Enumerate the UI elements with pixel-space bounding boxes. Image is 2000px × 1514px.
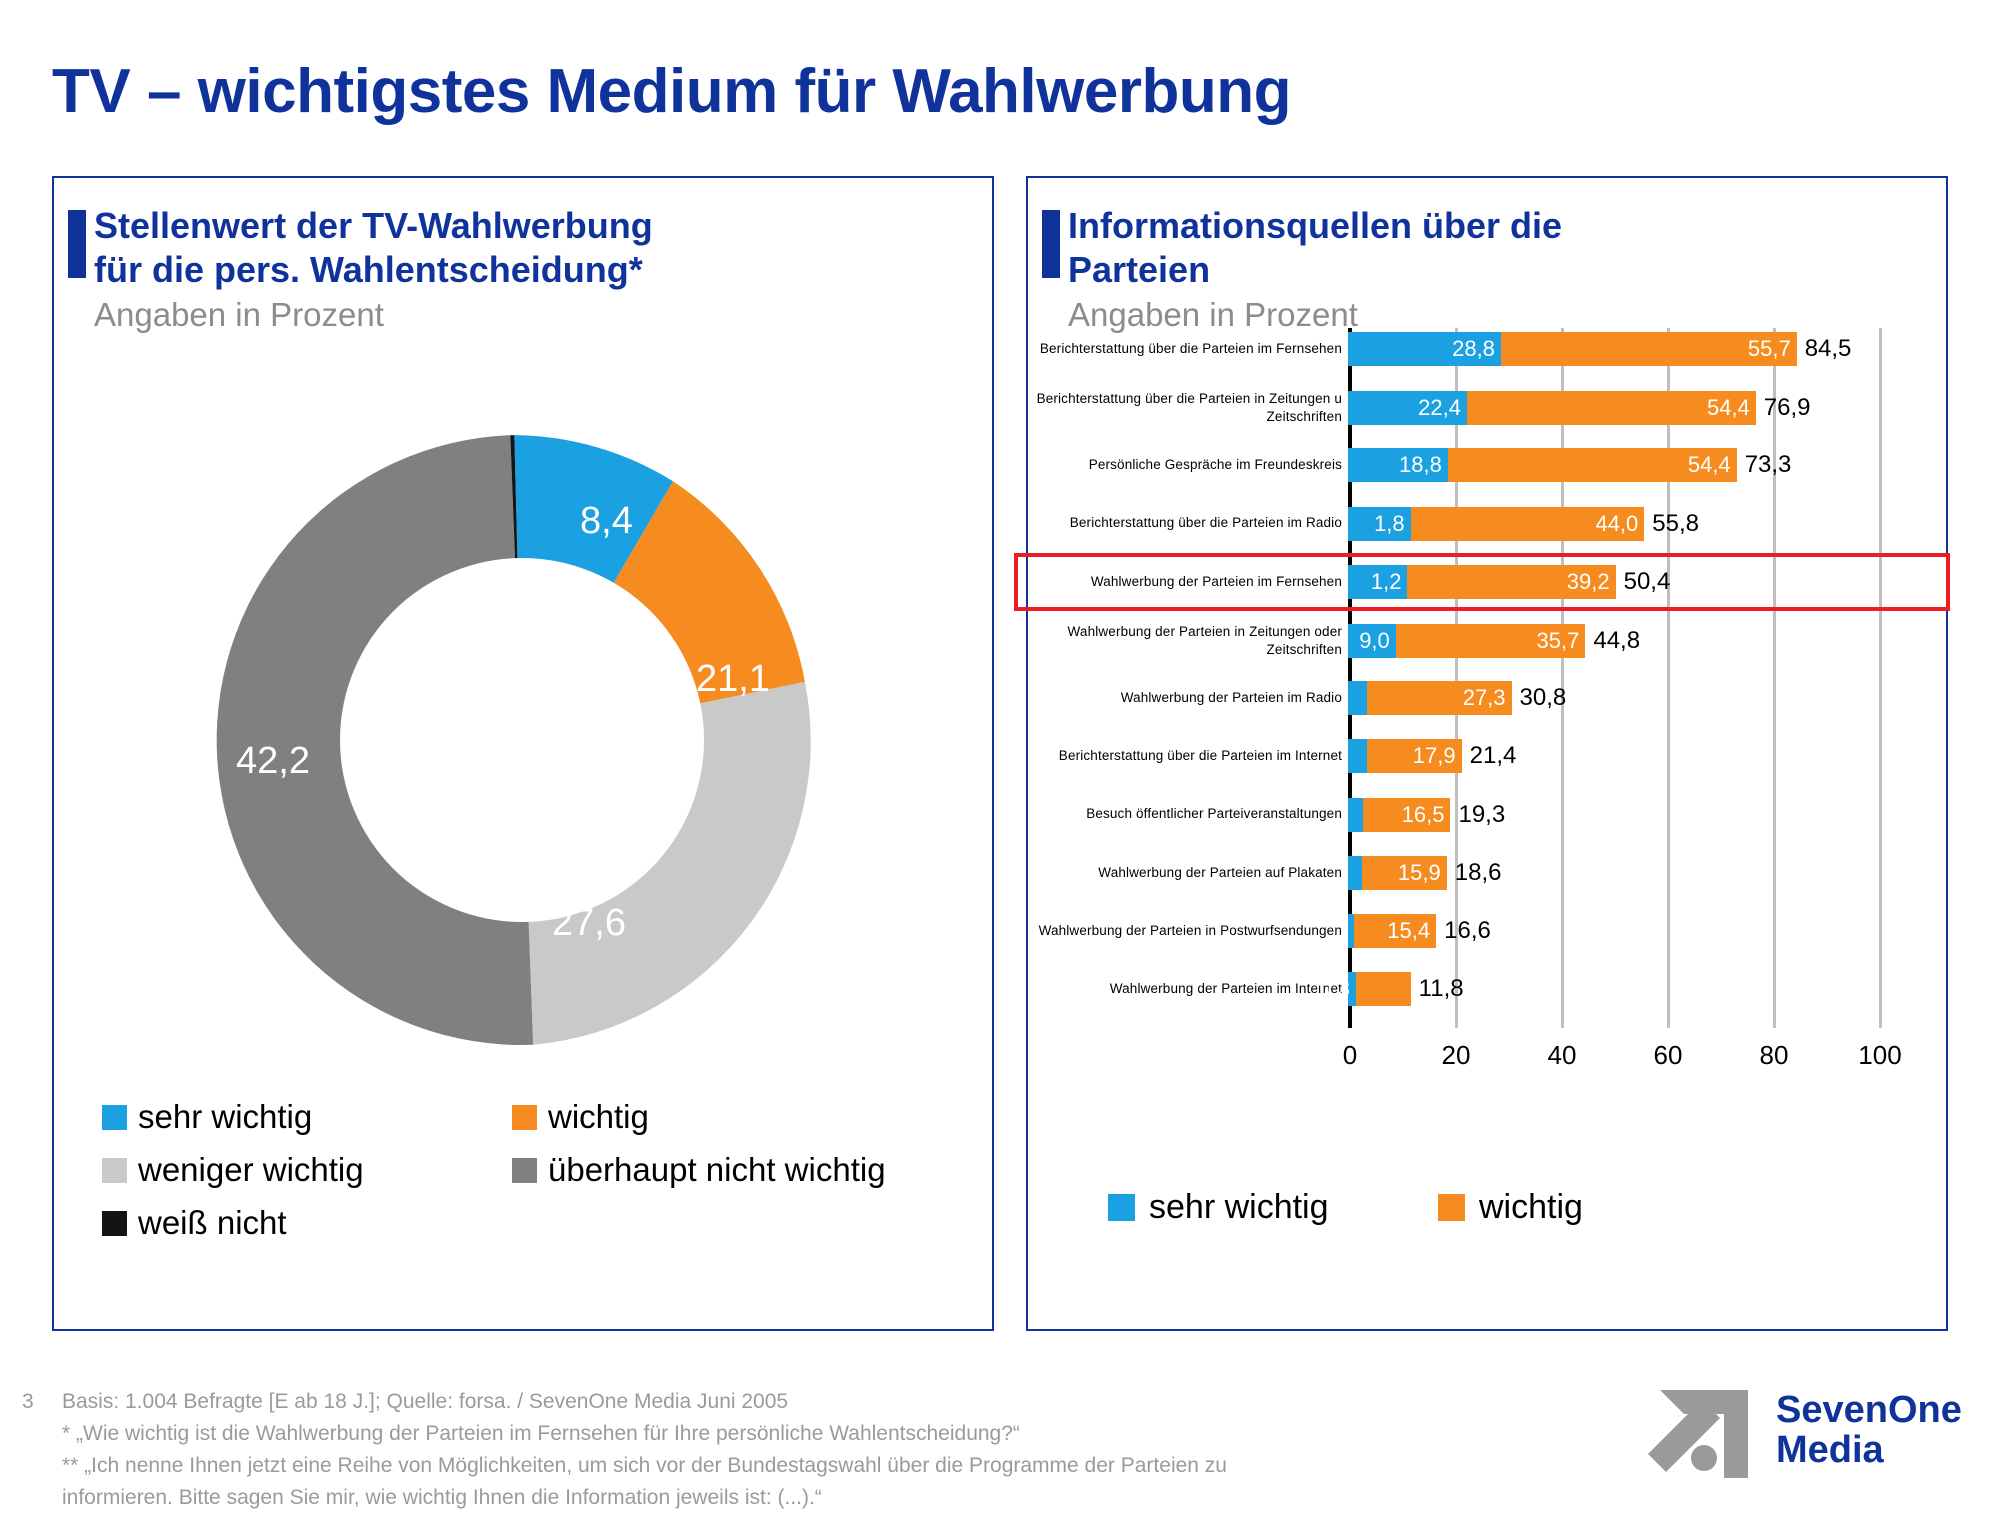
bar-track: 18,854,473,3 [1348,448,1944,482]
bar-row: Berichterstattung über die Parteien im I… [1028,739,1950,773]
bar-segment-sehr-wichtig: 22,4 [1348,391,1467,425]
legend-label: sehr wichtig [138,1098,312,1136]
logo-wordmark: SevenOne Media [1776,1390,1962,1471]
bar-segment-wichtig: 15,4 [1354,914,1436,948]
bar-total-label: 19,3 [1450,798,1505,832]
bar-segment-wichtig [1356,972,1411,1006]
bar-segment-wichtig: 16,5 [1363,798,1451,832]
bar-category-label: Wahlwerbung der Parteien im Radio [1028,689,1348,707]
legend-label: sehr wichtig [1149,1188,1329,1227]
bar-segment-sehr-wichtig [1348,856,1362,890]
bar-row: Berichterstattung über die Parteien im R… [1028,507,1950,541]
bar-category-label: Persönliche Gespräche im Freundeskreis [1028,456,1348,474]
bar-segment-sehr-wichtig: 28,8 [1348,332,1501,366]
bar-segment-wichtig: 39,2 [1407,565,1615,599]
legend-item-sehr-wichtig: sehr wichtig [1108,1188,1438,1227]
legend-row: weniger wichtig überhaupt nicht wichtig [102,1151,952,1189]
bar-total-label: 16,6 [1436,914,1491,948]
bar-track: 27,330,8 [1348,681,1944,715]
left-heading-line1: Stellenwert der TV-Wahlwerbung [94,204,972,248]
legend-item-weiss-nicht: weiß nicht [102,1204,512,1242]
page-number: 3 [22,1386,52,1418]
xtick-20: 20 [1442,1040,1471,1071]
donut-hole [340,558,704,922]
left-panel-heading: Stellenwert der TV-Wahlwerbung für die p… [94,204,972,292]
legend-item-weniger-wichtig: weniger wichtig [102,1151,512,1189]
bar-total-label: 30,8 [1512,681,1567,715]
bar-row: Wahlwerbung der Parteien im Fernsehen1,2… [1028,565,1950,599]
bar-track: 1,239,250,4 [1348,565,1944,599]
donut-value-weniger-wichtig: 27,6 [552,902,626,945]
bar-row: Besuch öffentlicher Parteiveranstaltunge… [1028,798,1950,832]
bar-row: Wahlwerbung der Parteien in Zeitungen od… [1028,623,1950,659]
bar-segment-sehr-wichtig: 18,8 [1348,448,1448,482]
bar-segment-sehr-wichtig [1348,681,1367,715]
bar-segment-sehr-wichtig [1348,739,1367,773]
legend-swatch-icon [512,1105,537,1130]
left-heading-line2: für die pers. Wahlentscheidung* [94,248,972,292]
bar-track: 17,921,4 [1348,739,1944,773]
bar-row: Wahlwerbung der Parteien im Radio27,330,… [1028,681,1950,715]
right-chart-legend: sehr wichtig wichtig [1108,1188,1908,1227]
bar-total-label: 11,8 [1411,972,1464,1006]
footer-line-question2b: informieren. Bitte sagen Sie mir, wie wi… [62,1482,1522,1514]
bar-segment-sehr-wichtig: 1,2 [1348,565,1407,599]
bar-category-label: Berichterstattung über die Parteien in Z… [1028,390,1348,426]
donut-value-sehr-wichtig: 8,4 [580,500,633,543]
panel-informationsquellen: Informationsquellen über die Parteien An… [1026,176,1948,1331]
bar-category-label: Wahlwerbung der Parteien im Fernsehen [1028,573,1348,591]
right-panel-heading: Informationsquellen über die Parteien [1068,204,1926,292]
footer-line-question1: * „Wie wichtig ist die Wahlwerbung der P… [62,1418,1522,1450]
legend-item-sehr-wichtig: sehr wichtig [102,1098,512,1136]
bar-segment-wichtig: 17,9 [1367,739,1462,773]
xtick-100: 100 [1858,1040,1901,1071]
bar-segment-wichtig: 15,9 [1362,856,1446,890]
footer-line-basis: Basis: 1.004 Befragte [E ab 18 J.]; Quel… [62,1386,1522,1418]
bar-segment-wichtig: 54,4 [1467,391,1756,425]
legend-label: wichtig [548,1098,649,1136]
bar-track: 22,454,476,9 [1348,391,1944,425]
donut-chart: 8,4 21,1 27,6 42,2 [172,390,872,1090]
xtick-60: 60 [1654,1040,1683,1071]
right-heading-line1: Informationsquellen über die [1068,204,1926,248]
bar-segment-sehr-wichtig: 1,8 [1348,507,1411,541]
bar-category-label: Wahlwerbung der Parteien auf Plakaten [1028,864,1348,882]
footer-notes: 3 Basis: 1.004 Befragte [E ab 18 J.]; Qu… [22,1386,1522,1514]
bar-track: 16,519,3 [1348,798,1944,832]
bar-segment-wichtig: 44,0 [1411,507,1645,541]
xtick-0: 0 [1343,1040,1357,1071]
bar-total-label: 73,3 [1737,448,1792,482]
bar-track: 15,416,6 [1348,914,1944,948]
bar-total-label: 55,8 [1644,507,1699,541]
bar-track: 9,035,744,8 [1348,624,1944,658]
bar-total-label: 18,6 [1447,856,1502,890]
sevenone-arrow-icon [1640,1382,1760,1482]
bar-segment-sehr-wichtig [1348,798,1363,832]
bar-category-label: Berichterstattung über die Parteien im I… [1028,747,1348,765]
bar-segment-wichtig: 54,4 [1448,448,1737,482]
left-panel-header: Stellenwert der TV-Wahlwerbung für die p… [54,178,992,334]
left-chart-legend: sehr wichtig wichtig weniger wichtig übe… [102,1098,952,1257]
logo-line1: SevenOne [1776,1390,1962,1430]
bar-track: 1,844,055,8 [1348,507,1944,541]
right-heading-line2: Parteien [1068,248,1926,292]
bar-category-label: Wahlwerbung der Parteien in Postwurfsend… [1028,922,1348,940]
bar-segment-wichtig: 55,7 [1501,332,1797,366]
legend-swatch-icon [102,1105,127,1130]
legend-item-wichtig: wichtig [1438,1188,1768,1227]
bar-segment-wichtig: 35,7 [1396,624,1586,658]
donut-value-wichtig: 21,1 [696,658,770,701]
donut-value-ueberhaupt-nicht-wichtig: 42,2 [236,740,310,783]
legend-label: weiß nicht [138,1204,287,1242]
bar-category-label: Berichterstattung über die Parteien im F… [1028,340,1348,358]
bar-segment-wichtig: 27,3 [1367,681,1512,715]
bar-chart: Berichterstattung über die Parteien im F… [1028,328,1950,1048]
bar-total-label: 44,8 [1585,624,1640,658]
legend-item-wichtig: wichtig [512,1098,922,1136]
legend-item-ueberhaupt-nicht-wichtig: überhaupt nicht wichtig [512,1151,922,1189]
xtick-40: 40 [1548,1040,1577,1071]
legend-label: wichtig [1479,1188,1583,1227]
panel-stellenwert: Stellenwert der TV-Wahlwerbung für die p… [52,176,994,1331]
logo-line2: Media [1776,1430,1962,1470]
bar-segment-sehr-wichtig: 9,0 [1348,624,1396,658]
page-title: TV – wichtigstes Medium für Wahlwerbung [52,56,1291,127]
bar-row: Wahlwerbung der Parteien auf Plakaten15,… [1028,856,1950,890]
legend-swatch-icon [1438,1194,1465,1221]
left-panel-subheading: Angaben in Prozent [94,296,972,334]
footer-line-question2a: ** „Ich nenne Ihnen jetzt eine Reihe von… [62,1450,1522,1482]
legend-swatch-icon [102,1211,127,1236]
xtick-80: 80 [1760,1040,1789,1071]
bar-total-label: 76,9 [1756,391,1811,425]
bar-track: 28,855,784,5 [1348,332,1944,366]
bar-category-label: Wahlwerbung der Parteien im Internet [1028,980,1348,998]
bar-total-label: 21,4 [1462,739,1517,773]
bar-track: 15,918,6 [1348,856,1944,890]
sevenone-media-logo: SevenOne Media [1640,1382,1980,1492]
bar-category-label: Berichterstattung über die Parteien im R… [1028,514,1348,532]
legend-swatch-icon [1108,1194,1135,1221]
right-panel-header: Informationsquellen über die Parteien An… [1028,178,1946,334]
bar-row: Persönliche Gespräche im Freundeskreis18… [1028,448,1950,482]
legend-label: überhaupt nicht wichtig [548,1151,886,1189]
legend-label: weniger wichtig [138,1151,364,1189]
bar-category-label: Besuch öffentlicher Parteiveranstaltunge… [1028,805,1348,823]
bar-row: Wahlwerbung der Parteien in Postwurfsend… [1028,914,1950,948]
legend-row: weiß nicht [102,1204,952,1242]
bar-row: Berichterstattung über die Parteien im F… [1028,332,1950,366]
bar-category-label: Wahlwerbung der Parteien in Zeitungen od… [1028,623,1348,659]
legend-row: sehr wichtig wichtig [102,1098,952,1136]
bar-total-label: 50,4 [1616,565,1671,599]
bar-total-label: 84,5 [1797,332,1852,366]
legend-swatch-icon [512,1158,537,1183]
bar-row: Wahlwerbung der Parteien im Internet0,31… [1028,972,1950,1006]
legend-swatch-icon [102,1158,127,1183]
bar-segment-sehr-wichtig: 0,3 [1348,972,1356,1006]
bar-track: 0,311,8 [1348,972,1944,1006]
bar-row: Berichterstattung über die Parteien in Z… [1028,390,1950,426]
